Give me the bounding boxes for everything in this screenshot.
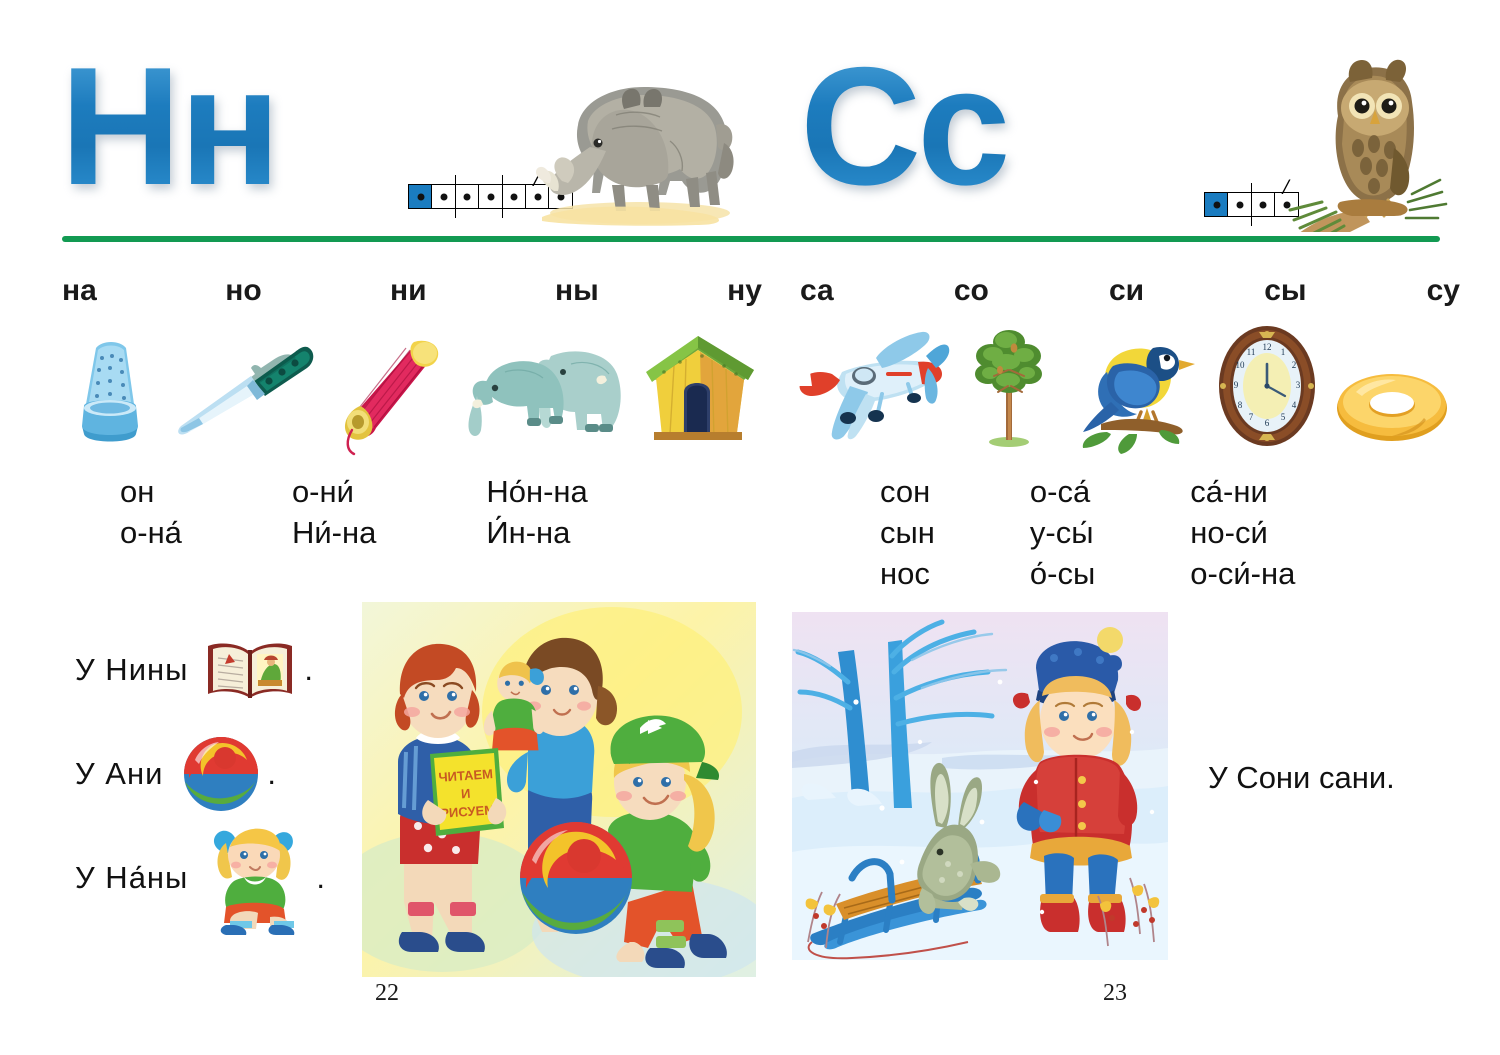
rebus-text: У Ани bbox=[75, 756, 163, 792]
thread-spool-picture bbox=[330, 330, 448, 448]
syllable-ну: ну bbox=[727, 274, 762, 308]
svg-text:И: И bbox=[461, 786, 471, 802]
scheme-sound-dot bbox=[417, 193, 424, 200]
svg-text:7: 7 bbox=[1248, 412, 1253, 422]
svg-text:6: 6 bbox=[1264, 418, 1269, 428]
left-page-number: 22 bbox=[375, 980, 399, 1007]
right-page-sentence: У Сони сани. bbox=[1208, 760, 1395, 796]
rebus-sentence-list: У Нины bbox=[75, 618, 375, 930]
book-picture bbox=[202, 636, 298, 704]
rhino-illustration bbox=[520, 55, 750, 230]
syllable-си: си bbox=[1109, 274, 1144, 308]
rebus-period: . bbox=[316, 860, 325, 896]
word-item: нос bbox=[880, 554, 935, 595]
rebus-line: У Ани . bbox=[75, 722, 375, 826]
word-item: о-на́ bbox=[120, 513, 182, 554]
word-item: И́н-на bbox=[486, 513, 587, 554]
scheme-cell bbox=[431, 184, 456, 209]
rebus-text: У Нины bbox=[75, 652, 188, 688]
scheme-sound-dot bbox=[511, 193, 518, 200]
word-column: са́-нино-си́о-си́-на bbox=[1190, 472, 1295, 595]
titmouse-picture bbox=[1067, 326, 1199, 448]
right-word-columns: сонсынносо-са́у-сы́о́-сыса́-нино-си́о-си… bbox=[880, 472, 1440, 595]
word-item: но-си́ bbox=[1190, 513, 1295, 554]
scheme-sound-dot bbox=[464, 193, 471, 200]
word-item: у-сы́ bbox=[1030, 513, 1095, 554]
rebus-line: У На́ны bbox=[75, 826, 375, 930]
word-item: о-ни́ bbox=[292, 472, 376, 513]
word-item: Но́н-на bbox=[486, 472, 587, 513]
syllable-са: са bbox=[800, 274, 834, 308]
word-item: он bbox=[120, 472, 182, 513]
scheme-sound-dot bbox=[1213, 201, 1220, 208]
svg-text:2: 2 bbox=[1291, 360, 1296, 370]
rebus-period: . bbox=[267, 756, 276, 792]
svg-text:8: 8 bbox=[1237, 400, 1242, 410]
ball-picture bbox=[181, 734, 261, 814]
green-divider-rule bbox=[62, 236, 1440, 242]
scheme-syllable-divider bbox=[455, 175, 456, 218]
scheme-sound-dot bbox=[440, 193, 447, 200]
rebus-line: У Нины bbox=[75, 618, 375, 722]
scheme-sound-dot bbox=[1260, 201, 1267, 208]
right-letter-pair: Сс bbox=[800, 42, 1009, 210]
scheme-syllable-divider bbox=[502, 175, 503, 218]
right-syllable-row: сасосисысу bbox=[800, 274, 1460, 308]
right-picture-row: 1212 345 678 91011 bbox=[790, 318, 1450, 448]
word-item: са́-ни bbox=[1190, 472, 1295, 513]
left-word-columns: оно-на́о-ни́Ни́-наНо́н-наИ́н-на bbox=[120, 472, 740, 554]
svg-text:4: 4 bbox=[1291, 400, 1296, 410]
rebus-text: У На́ны bbox=[75, 860, 188, 896]
elephants-picture bbox=[459, 326, 629, 448]
syllable-ни: ни bbox=[390, 274, 427, 308]
scheme-cell bbox=[1251, 192, 1276, 217]
word-column: оно-на́ bbox=[120, 472, 182, 554]
syllable-су: су bbox=[1427, 274, 1460, 308]
syllable-но: но bbox=[225, 274, 261, 308]
word-item: сон bbox=[880, 472, 935, 513]
right-page-number: 23 bbox=[1103, 980, 1127, 1007]
svg-text:5: 5 bbox=[1280, 412, 1285, 422]
rebus-period: . bbox=[304, 652, 313, 688]
svg-text:11: 11 bbox=[1246, 347, 1255, 357]
word-column: сонсыннос bbox=[880, 472, 935, 595]
left-syllable-row: нанониныну bbox=[62, 274, 762, 308]
scheme-cell bbox=[1227, 192, 1252, 217]
scheme-syllable-divider bbox=[1251, 183, 1252, 226]
word-item: о́-сы bbox=[1030, 554, 1095, 595]
girl-with-sled-illustration bbox=[792, 612, 1168, 960]
word-item: о-са́ bbox=[1030, 472, 1095, 513]
spread-canvas: Нн / bbox=[0, 0, 1500, 1055]
word-item: о-си́-на bbox=[1190, 554, 1295, 595]
bagel-picture bbox=[1334, 364, 1450, 448]
syllable-на: на bbox=[62, 274, 97, 308]
doll-picture bbox=[200, 825, 310, 931]
doghouse-picture bbox=[640, 328, 762, 448]
primer-spread: Нн / bbox=[0, 0, 1500, 1055]
left-letter-pair: Нн bbox=[60, 42, 279, 210]
owl-illustration bbox=[1282, 52, 1462, 232]
scheme-cell bbox=[455, 184, 480, 209]
scheme-sound-dot bbox=[1236, 201, 1243, 208]
svg-text:10: 10 bbox=[1235, 360, 1245, 370]
scheme-cell bbox=[1204, 192, 1229, 217]
word-column: о-са́у-сы́о́-сы bbox=[1030, 472, 1095, 595]
pine-tree-picture bbox=[966, 326, 1052, 448]
syllable-ны: ны bbox=[555, 274, 599, 308]
svg-text:3: 3 bbox=[1295, 380, 1300, 390]
knife-picture bbox=[169, 330, 319, 448]
clock-picture: 1212 345 678 91011 bbox=[1215, 324, 1319, 448]
scheme-sound-dot bbox=[487, 193, 494, 200]
scheme-cell bbox=[478, 184, 503, 209]
svg-text:12: 12 bbox=[1262, 342, 1271, 352]
word-item: Ни́-на bbox=[292, 513, 376, 554]
thimble-picture bbox=[62, 330, 158, 448]
children-playing-illustration: ЧИТАЕМ И РИСУЕМ bbox=[362, 602, 756, 977]
svg-text:1: 1 bbox=[1280, 347, 1285, 357]
syllable-сы: сы bbox=[1264, 274, 1306, 308]
airplane-picture bbox=[790, 328, 950, 448]
syllable-со: со bbox=[954, 274, 989, 308]
word-column: о-ни́Ни́-на bbox=[292, 472, 376, 554]
scheme-cell bbox=[408, 184, 433, 209]
word-item: сын bbox=[880, 513, 935, 554]
word-column: Но́н-наИ́н-на bbox=[486, 472, 587, 554]
svg-text:9: 9 bbox=[1233, 380, 1238, 390]
left-picture-row bbox=[62, 318, 762, 448]
